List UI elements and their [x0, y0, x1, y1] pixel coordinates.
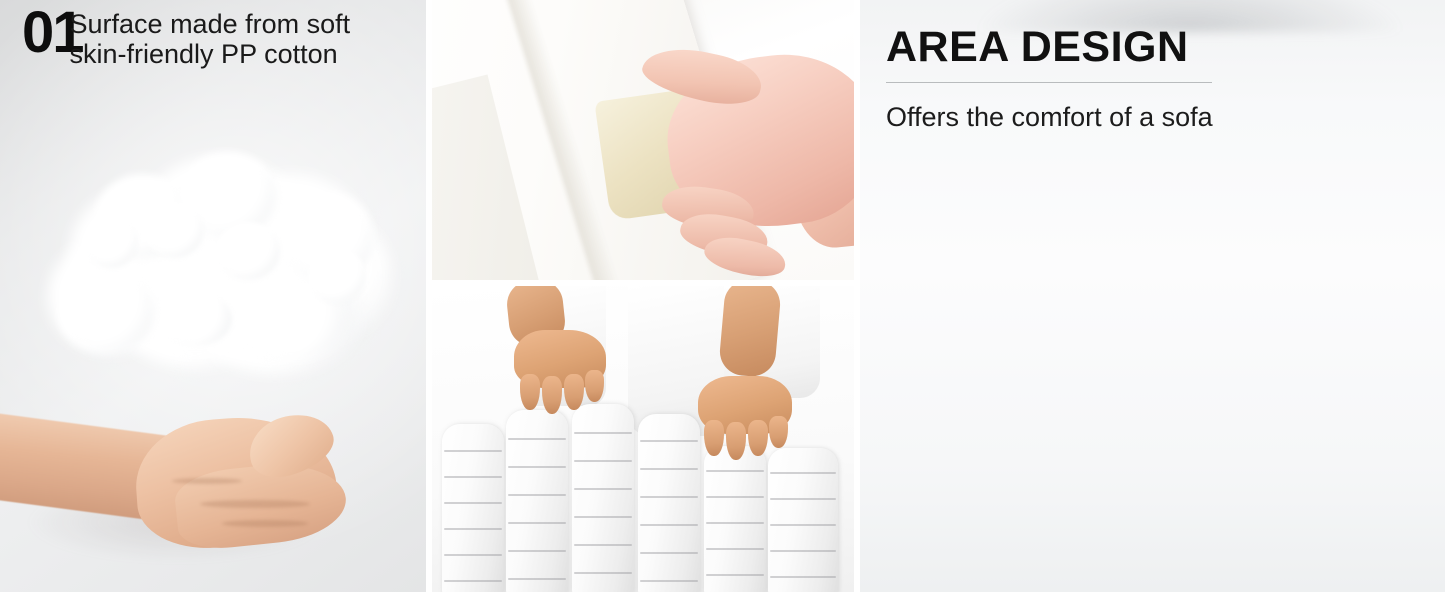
feature-01-caption: 01 Surface made from soft skin-friendly …	[22, 6, 350, 69]
pp-cotton-cloud-image	[40, 152, 390, 362]
forearm-right	[718, 286, 782, 378]
feature-panel-02: 02 Seat cushion made from safe polyureth…	[432, 0, 854, 280]
infographic-stage: 01 Surface made from soft skin-friendly …	[0, 0, 1445, 592]
hand-squeezing-foam	[622, 30, 854, 280]
hand-holding-cotton	[0, 404, 346, 592]
feature-panel-03: 03 Built-in independent pocket springs	[432, 286, 854, 592]
finger-ring	[701, 232, 788, 280]
title-divider	[886, 82, 1212, 83]
area-design-panel	[860, 0, 1445, 592]
area-design-subtitle: Offers the comfort of a sofa	[886, 101, 1213, 133]
feature-01-text: Surface made from soft skin-friendly PP …	[70, 9, 351, 69]
feature-panel-01: 01 Surface made from soft skin-friendly …	[0, 0, 426, 592]
area-design-title: AREA DESIGN	[886, 26, 1189, 69]
